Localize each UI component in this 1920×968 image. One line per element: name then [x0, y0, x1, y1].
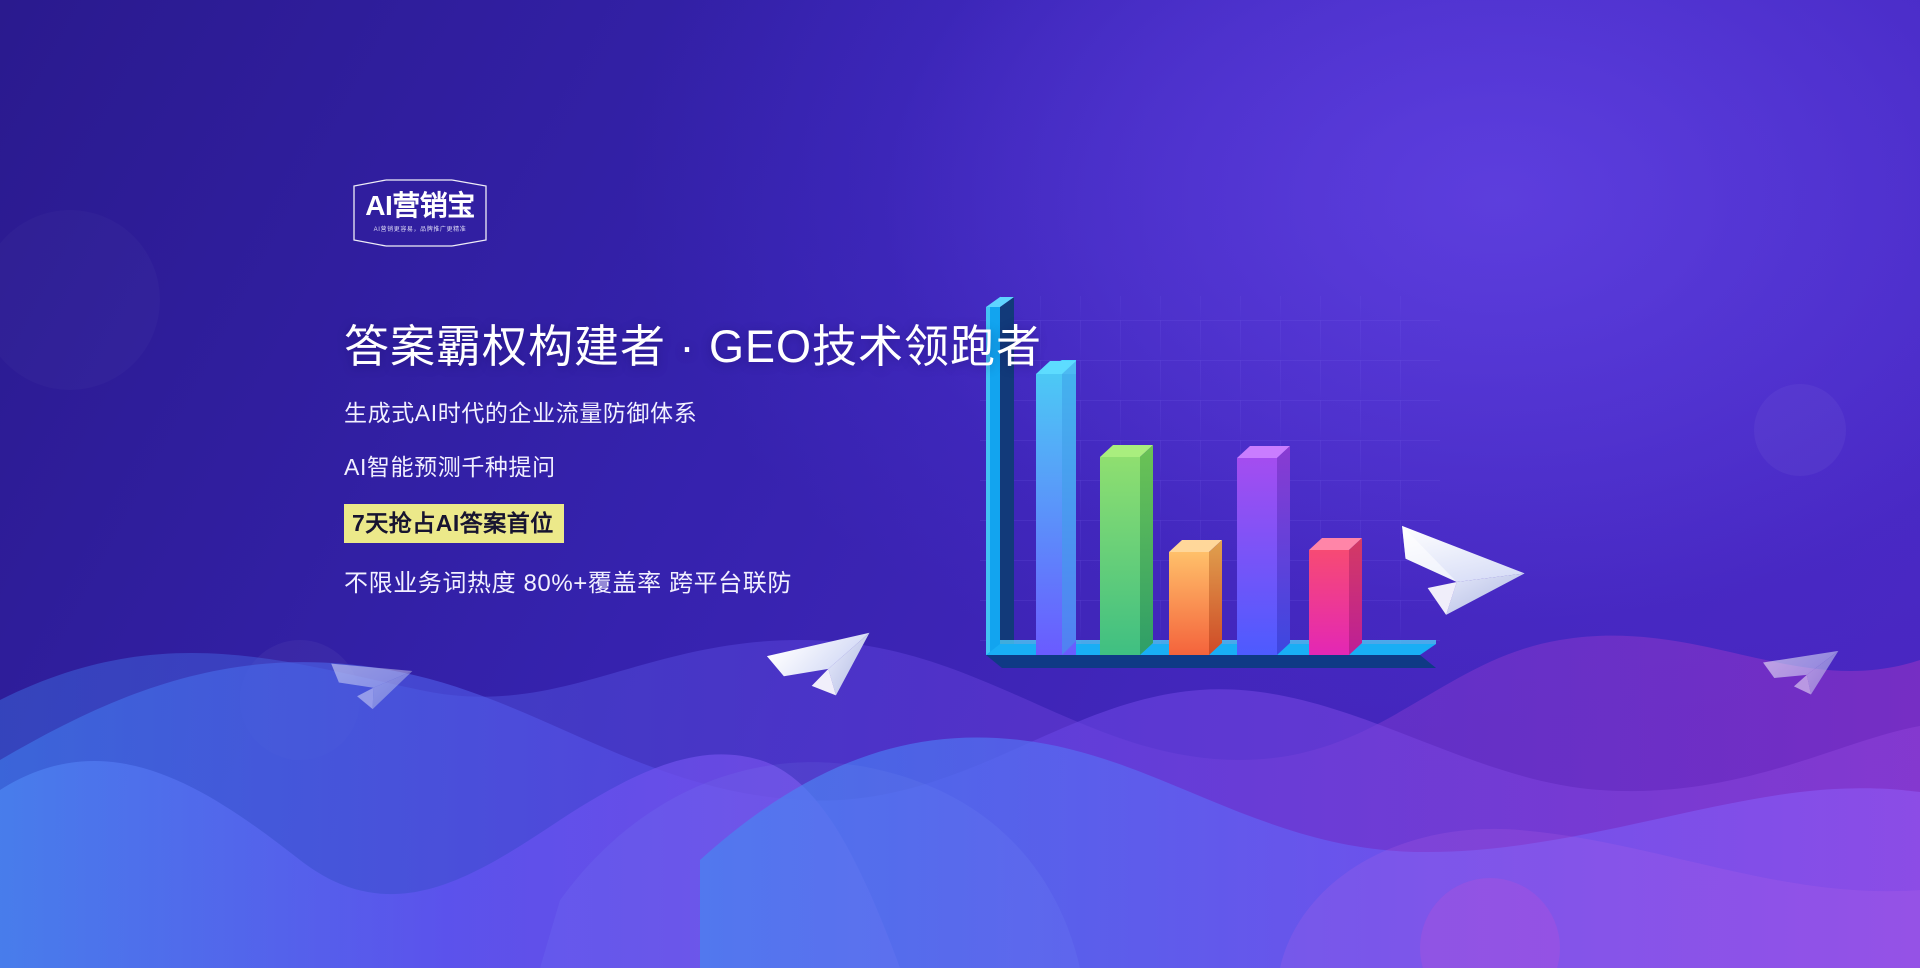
paper-plane-center [767, 611, 888, 715]
paper-plane-layer [0, 0, 1920, 968]
paper-plane-chart-right [1391, 526, 1529, 625]
paper-plane-far-right [1763, 635, 1850, 707]
paper-plane-left [331, 653, 417, 714]
hero-banner: AI营销宝 AI营销更容易，品牌推广更精准 答案霸权构建者 · GEO技术领跑者… [0, 0, 1920, 968]
